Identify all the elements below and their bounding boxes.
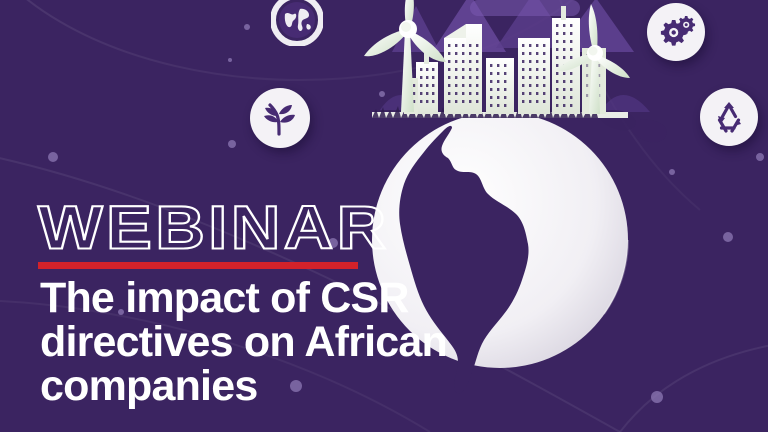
recycle-icon-badge[interactable] bbox=[700, 88, 758, 146]
webinar-banner: WEBINAR The impact of CSR directives on … bbox=[0, 0, 768, 432]
text-block: WEBINAR The impact of CSR directives on … bbox=[38, 200, 638, 254]
globe-icon bbox=[271, 0, 323, 46]
webinar-underline bbox=[38, 262, 358, 269]
plant-icon bbox=[260, 98, 300, 138]
globe-icon-badge[interactable] bbox=[271, 0, 323, 46]
gears-icon-badge[interactable] bbox=[647, 3, 705, 61]
webinar-eyebrow: WEBINAR bbox=[38, 200, 746, 257]
recycle-icon bbox=[710, 98, 748, 136]
page-title: The impact of CSR directives on African … bbox=[40, 276, 447, 408]
plant-icon-badge[interactable] bbox=[250, 88, 310, 148]
gears-icon bbox=[656, 12, 696, 52]
